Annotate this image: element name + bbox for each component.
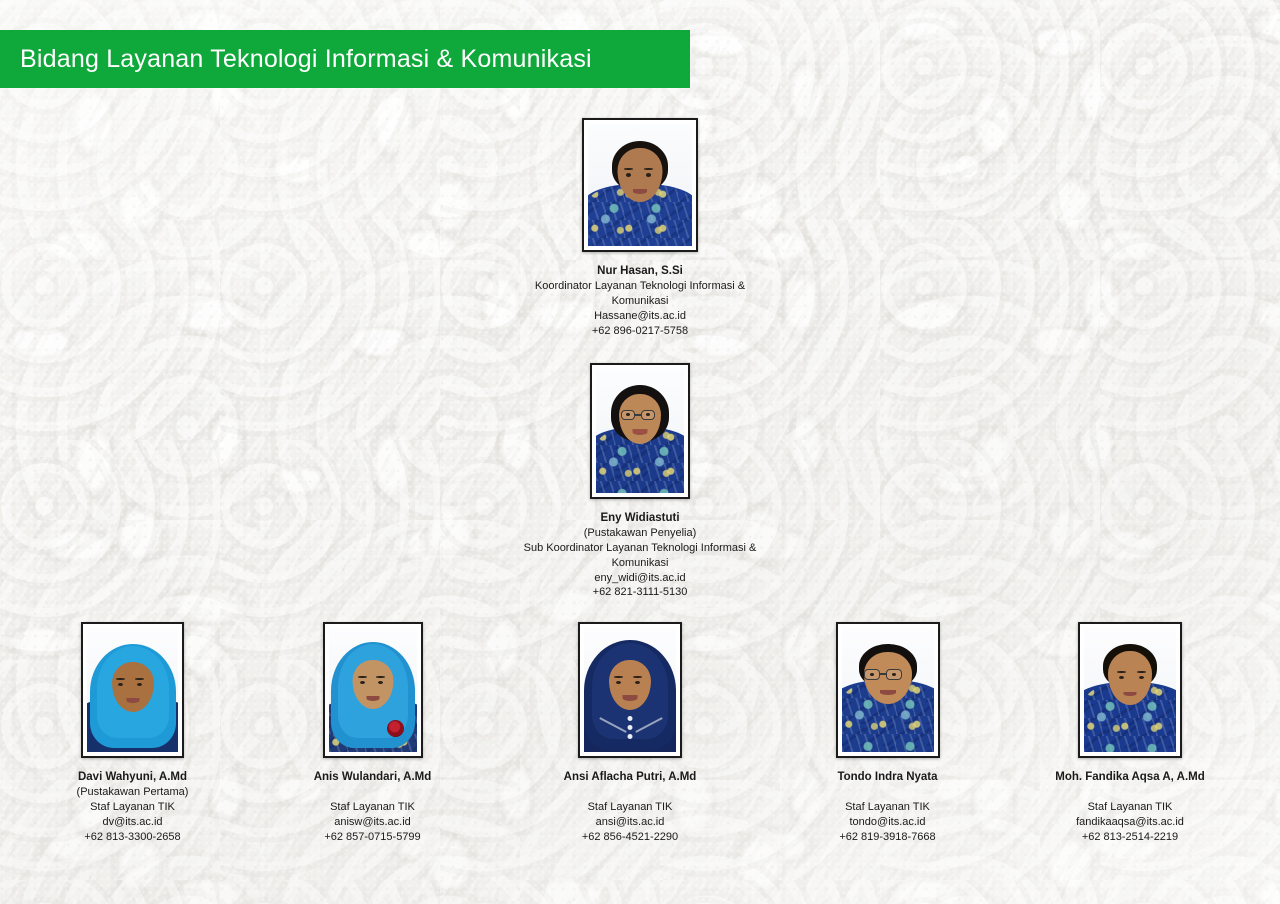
person-phone: +62 813-2514-2219: [1015, 830, 1245, 845]
photo-frame: [1078, 622, 1182, 758]
person-card-koordinator: Nur Hasan, S.Si Koordinator Layanan Tekn…: [512, 118, 768, 338]
person-email[interactable]: ansi@its.ac.id: [520, 815, 740, 830]
portrait-ansi-aflacha-putri-icon: [584, 628, 676, 752]
person-card-staf-4: Tondo Indra Nyata Staf Layanan TIK tondo…: [780, 622, 995, 845]
person-email[interactable]: dv@its.ac.id: [25, 815, 240, 830]
portrait-anis-wulandari-icon: [329, 628, 417, 752]
person-position: Koordinator Layanan Teknologi Informasi …: [512, 279, 768, 308]
person-phone: +62 819-3918-7668: [780, 830, 995, 845]
person-name: Ansi Aflacha Putri, A.Md: [520, 770, 740, 785]
person-parenthetical: (Pustakawan Pertama): [25, 785, 240, 800]
person-caption: Nur Hasan, S.Si Koordinator Layanan Tekn…: [512, 264, 768, 338]
person-caption: Anis Wulandari, A.Md Staf Layanan TIK an…: [265, 770, 480, 845]
flower-brooch-icon: [387, 720, 404, 737]
person-caption: Moh. Fandika Aqsa A, A.Md Staf Layanan T…: [1015, 770, 1245, 845]
photo-frame: [578, 622, 682, 758]
person-email[interactable]: anisw@its.ac.id: [265, 815, 480, 830]
header-banner: Bidang Layanan Teknologi Informasi & Kom…: [0, 30, 690, 88]
person-caption: Eny Widiastuti (Pustakawan Penyelia) Sub…: [512, 511, 768, 600]
person-parenthetical: [265, 785, 480, 800]
person-email[interactable]: tondo@its.ac.id: [780, 815, 995, 830]
person-name: Eny Widiastuti: [512, 511, 768, 526]
person-position: Staf Layanan TIK: [780, 800, 995, 815]
org-chart-page: Bidang Layanan Teknologi Informasi & Kom…: [0, 0, 1280, 904]
person-name: Davi Wahyuni, A.Md: [25, 770, 240, 785]
photo-frame: [81, 622, 184, 758]
person-parenthetical: (Pustakawan Penyelia): [512, 526, 768, 541]
photo-frame: [323, 622, 423, 758]
portrait-tondo-indra-nyata-icon: [842, 628, 934, 752]
person-caption: Ansi Aflacha Putri, A.Md Staf Layanan TI…: [520, 770, 740, 845]
person-position: Sub Koordinator Layanan Teknologi Inform…: [512, 541, 768, 570]
person-phone: +62 821-3111-5130: [512, 585, 768, 600]
photo-frame: [582, 118, 698, 252]
person-parenthetical: [520, 785, 740, 800]
person-card-staf-3: Ansi Aflacha Putri, A.Md Staf Layanan TI…: [520, 622, 740, 845]
person-card-staf-5: Moh. Fandika Aqsa A, A.Md Staf Layanan T…: [1015, 622, 1245, 845]
person-position: Staf Layanan TIK: [1015, 800, 1245, 815]
person-phone: +62 857-0715-5799: [265, 830, 480, 845]
person-name: Anis Wulandari, A.Md: [265, 770, 480, 785]
person-phone: +62 856-4521-2290: [520, 830, 740, 845]
person-caption: Tondo Indra Nyata Staf Layanan TIK tondo…: [780, 770, 995, 845]
person-card-staf-2: Anis Wulandari, A.Md Staf Layanan TIK an…: [265, 622, 480, 845]
portrait-eny-widiastuti-icon: [596, 369, 684, 493]
person-parenthetical: [1015, 785, 1245, 800]
person-email[interactable]: eny_widi@its.ac.id: [512, 571, 768, 586]
person-parenthetical: [780, 785, 995, 800]
person-name: Moh. Fandika Aqsa A, A.Md: [1015, 770, 1245, 785]
person-phone: +62 813-3300-2658: [25, 830, 240, 845]
person-card-sub-koordinator: Eny Widiastuti (Pustakawan Penyelia) Sub…: [512, 363, 768, 600]
page-title: Bidang Layanan Teknologi Informasi & Kom…: [0, 45, 592, 74]
person-caption: Davi Wahyuni, A.Md (Pustakawan Pertama) …: [25, 770, 240, 844]
person-position: Staf Layanan TIK: [25, 800, 240, 815]
photo-frame: [590, 363, 690, 499]
person-email[interactable]: Hassane@its.ac.id: [512, 309, 768, 324]
portrait-nur-hasan-icon: [588, 124, 692, 246]
photo-frame: [836, 622, 940, 758]
person-position: Staf Layanan TIK: [520, 800, 740, 815]
portrait-moh-fandika-aqsa-a-icon: [1084, 628, 1176, 752]
person-name: Tondo Indra Nyata: [780, 770, 995, 785]
person-phone: +62 896-0217-5758: [512, 324, 768, 339]
portrait-davi-wahyuni-icon: [87, 628, 178, 752]
person-email[interactable]: fandikaaqsa@its.ac.id: [1015, 815, 1245, 830]
person-position: Staf Layanan TIK: [265, 800, 480, 815]
person-name: Nur Hasan, S.Si: [512, 264, 768, 279]
person-card-staf-1: Davi Wahyuni, A.Md (Pustakawan Pertama) …: [25, 622, 240, 844]
